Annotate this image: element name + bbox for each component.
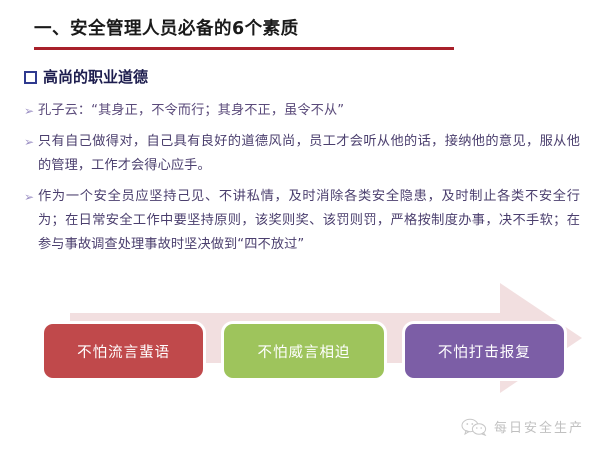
pill-row: 不怕流言蜚语 不怕威言相迫 不怕打击报复: [44, 324, 564, 378]
square-bullet-icon: [24, 71, 37, 84]
pill-label: 不怕威言相迫: [257, 341, 350, 362]
subheading: 高尚的职业道德: [24, 68, 148, 88]
footer-watermark: 每日安全生产: [461, 417, 584, 436]
bullet-text: 作为一个安全员应坚持己见、不讲私情，及时消除各类安全隐患，及时制止各类不安全行为…: [38, 185, 580, 257]
subheading-label: 高尚的职业道德: [43, 68, 148, 88]
title-underline-rule: [34, 47, 454, 50]
pill-label: 不怕打击报复: [438, 341, 531, 362]
bullet-text: 只有自己做得对，自己具有良好的道德风尚，员工才会听从他的话，接纳他的意见，服从他…: [38, 130, 580, 178]
arrow-bullet-icon: ➢: [24, 187, 38, 207]
bullet-list: ➢ 孔子云：“其身正，不令而行；其身不正，虽令不从” ➢ 只有自己做得对，自己具…: [24, 99, 580, 264]
title-block: 一、安全管理人员必备的6个素质: [34, 16, 480, 50]
pill-box-retaliation[interactable]: 不怕打击报复: [405, 324, 564, 378]
bullet-text: 孔子云：“其身正，不令而行；其身不正，虽令不从”: [38, 99, 580, 123]
footer-label: 每日安全生产: [494, 417, 584, 436]
list-item: ➢ 孔子云：“其身正，不令而行；其身不正，虽令不从”: [24, 99, 580, 123]
pill-label: 不怕流言蜚语: [77, 341, 170, 362]
page-title: 一、安全管理人员必备的6个素质: [34, 16, 480, 42]
arrow-bullet-icon: ➢: [24, 101, 38, 121]
list-item: ➢ 作为一个安全员应坚持己见、不讲私情，及时消除各类安全隐患，及时制止各类不安全…: [24, 185, 580, 257]
pill-box-rumors[interactable]: 不怕流言蜚语: [44, 324, 203, 378]
list-item: ➢ 只有自己做得对，自己具有良好的道德风尚，员工才会听从他的话，接纳他的意见，服…: [24, 130, 580, 178]
pill-box-threats[interactable]: 不怕威言相迫: [224, 324, 383, 378]
arrow-bullet-icon: ➢: [24, 132, 38, 152]
slide-canvas: 一、安全管理人员必备的6个素质 高尚的职业道德 ➢ 孔子云：“其身正，不令而行；…: [0, 0, 600, 450]
wechat-icon: [461, 418, 487, 436]
